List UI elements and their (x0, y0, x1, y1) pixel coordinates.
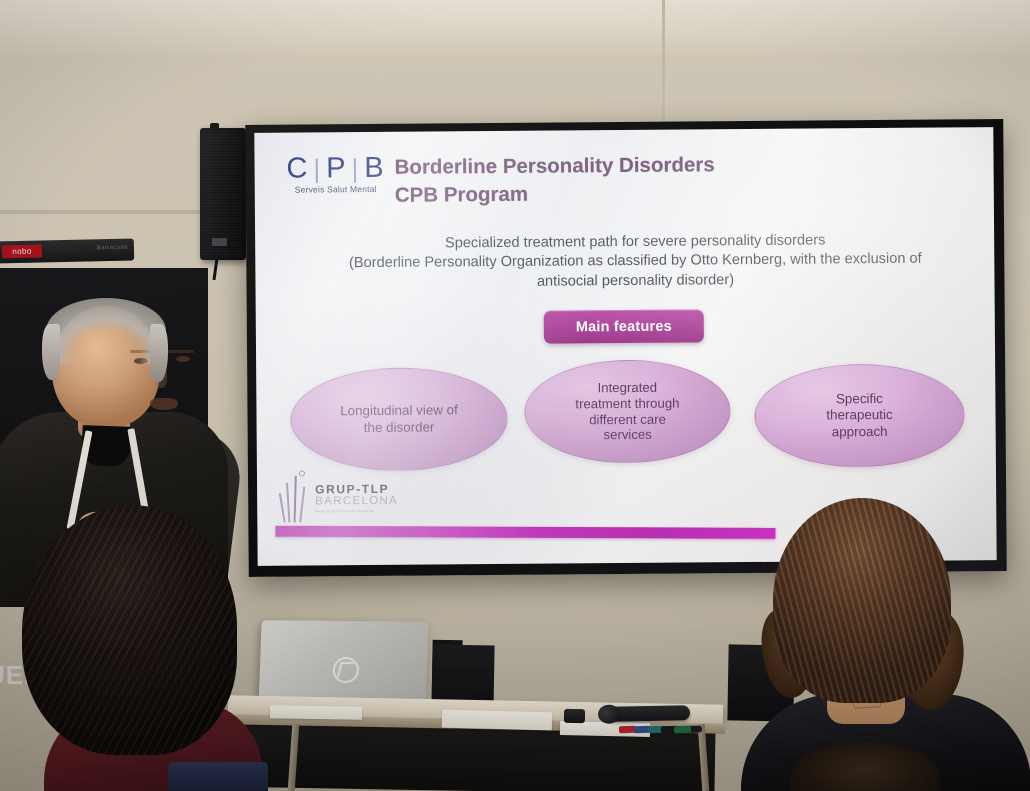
oval-1-line-1: Longitudinal view of (340, 403, 458, 420)
ceiling-light-gradient (0, 0, 1030, 60)
feature-oval-longitudinal-view: Longitudinal view of the disorder (290, 367, 508, 472)
presenter-hair-side-left (42, 324, 60, 380)
tlp-logo-city: BARCELONA (315, 495, 398, 508)
presenter-mouth (150, 398, 178, 410)
audience-member-left (22, 505, 274, 791)
oval-2-line-3: different care (575, 411, 679, 428)
speaker-mount (210, 123, 219, 130)
tlp-logo-stems-icon (277, 470, 313, 522)
oval-3-line-3: approach (826, 424, 892, 441)
slide-title: Borderline Personality Disorders CPB Pro… (394, 151, 715, 210)
cpb-letter-b: B (359, 152, 390, 185)
rollup-banner-case: nobo Barracuda (0, 239, 134, 264)
main-features-banner: Main features (544, 309, 704, 343)
oval-2-line-4: services (576, 427, 680, 444)
feature-oval-integrated-treatment: Integrated treatment through different c… (524, 359, 731, 464)
presenter-hair-side-right (150, 324, 168, 382)
presenter-hair (46, 298, 166, 364)
conference-room-photo: UEPOI nobo Barracuda C | P | B Servei (0, 0, 1030, 791)
audience-left-hair-texture (22, 505, 237, 755)
audience-right-hair-texture (773, 498, 951, 703)
presentation-remote (564, 709, 585, 723)
grup-tlp-logo: GRUP-TLP BARCELONA Associació Formació i… (277, 470, 393, 523)
cpb-logo-letters: C | P | B (280, 152, 390, 186)
marker-green (674, 726, 691, 734)
cpb-letter-c: C (281, 152, 313, 185)
features-oval-group: Longitudinal view of the disorder Integr… (256, 357, 996, 478)
hp-logo-icon (332, 657, 359, 683)
nobo-brand-logo: nobo (2, 244, 42, 258)
slide-title-line-1: Borderline Personality Disorders (394, 151, 714, 182)
oval-2-line-2: treatment through (575, 395, 679, 412)
cpb-logo-subtitle: Serveis Salut Mental (281, 184, 391, 195)
microphone-icon (608, 705, 690, 721)
presenter-eye-right (176, 356, 190, 362)
wall-seam (662, 0, 665, 128)
case-brand-text: Barracuda (97, 245, 128, 252)
oval-3-line-2: therapeutic (826, 407, 892, 424)
slide-title-line-2: CPB Program (395, 180, 715, 211)
audience-left-chair (168, 762, 268, 791)
oval-1-line-2: the disorder (340, 419, 458, 436)
cpb-letter-p: P (321, 152, 352, 185)
paper-sheet (442, 710, 552, 731)
paper-sheet (270, 705, 362, 720)
wall-speaker-icon (200, 128, 246, 260)
tlp-logo-wordmark: GRUP-TLP BARCELONA Associació Formació i… (315, 482, 398, 514)
speaker-brand-logo (212, 238, 227, 246)
feature-oval-specific-therapeutic: Specific therapeutic approach (754, 363, 965, 468)
cpb-logo: C | P | B Serveis Salut Mental (280, 152, 390, 195)
slide-accent-bar (275, 526, 775, 539)
tlp-logo-tagline: Associació Formació i Recerca (315, 509, 398, 514)
oval-3-line-1: Specific (826, 391, 892, 408)
oval-2-line-1: Integrated (575, 379, 679, 396)
slide-subtitle: Specialized treatment path for severe pe… (279, 230, 991, 293)
